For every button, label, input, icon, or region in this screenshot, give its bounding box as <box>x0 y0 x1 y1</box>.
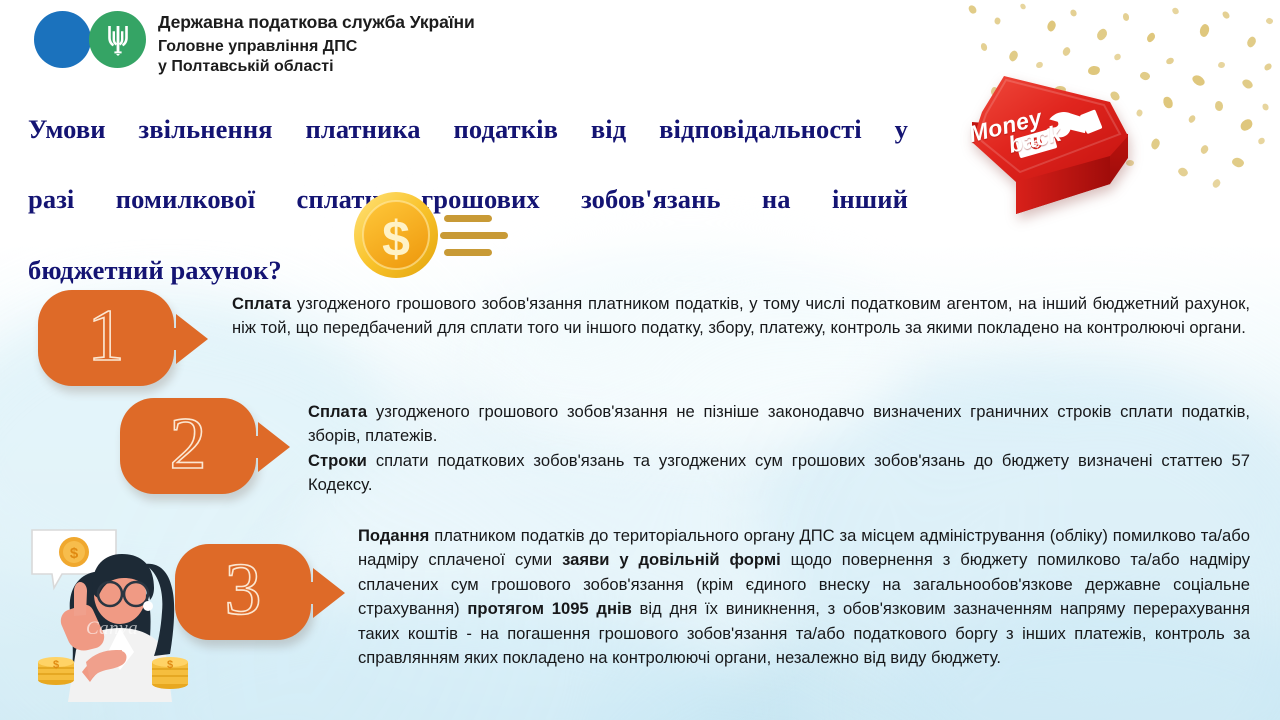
org-name: Державна податкова служба України <box>158 12 475 32</box>
step-1-lead: Сплата <box>232 294 291 313</box>
infographic-page: Державна податкова служба України Головн… <box>0 0 1280 720</box>
step-3-bold-3: протягом 1095 днів <box>467 599 631 618</box>
org-unit-line1: Головне управління ДПС <box>158 37 475 57</box>
page-title-line-1: Умови звільнення платника податків від в… <box>28 112 908 182</box>
org-unit-line2: у Полтавській області <box>158 57 475 77</box>
page-title-line-2: разі помилкової сплати грошових зобов'яз… <box>28 182 908 252</box>
page-title: Умови звільнення платника податків від в… <box>28 112 908 288</box>
step-1-body: узгодженого грошового зобов'язання платн… <box>232 294 1250 337</box>
header: Державна податкова служба України Головн… <box>34 6 475 78</box>
step-3-text: Подання платником податків до територіал… <box>358 524 1250 670</box>
step-3-bold-2: заяви у довільній формі <box>562 550 781 569</box>
page-title-line-3: бюджетний рахунок? <box>28 253 908 288</box>
step-2-text: Сплата узгодженого грошового зобов'язанн… <box>308 400 1250 498</box>
step-3-lead: Подання <box>358 526 429 545</box>
logo-green-circle-icon <box>89 11 146 68</box>
step-2-body-1: узгодженого грошового зобов'язання не пі… <box>308 402 1250 445</box>
step-2-lead-1: Сплата <box>308 402 367 421</box>
logo-blue-circle-icon <box>34 11 91 68</box>
step-2-lead-2: Строки <box>308 451 367 470</box>
step-2-body-2: сплати податкових зобов'язань та узгодже… <box>308 451 1250 494</box>
step-1-text: Сплата узгодженого грошового зобов'язанн… <box>232 292 1250 341</box>
organization-names: Державна податкова служба України Головн… <box>158 6 475 78</box>
ukraine-trident-icon <box>105 24 131 56</box>
organization-logo <box>34 6 146 72</box>
